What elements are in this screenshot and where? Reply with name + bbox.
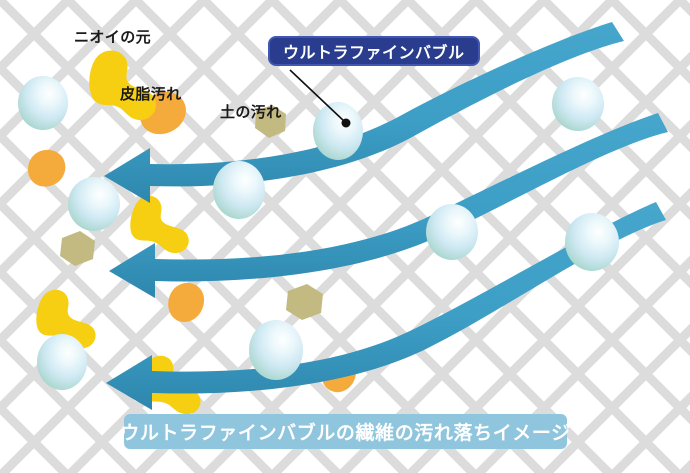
illustration-scene	[0, 0, 690, 473]
figure-canvas: ニオイの元 皮脂汚れ 土の汚れ ウルトラファインバブル ウルトラファインバブルの…	[0, 0, 690, 473]
bubble-3	[552, 77, 604, 131]
leader-dot	[342, 119, 351, 128]
bubble-8	[37, 334, 87, 390]
ultra-fine-bubble-badge: ウルトラファインバブル	[268, 36, 480, 66]
figure-caption-bar: ウルトラファインバブルの繊維の汚れ落ちイメージ	[124, 414, 567, 449]
bubble-6	[426, 204, 478, 260]
bubble-2	[313, 102, 363, 160]
bubble-5	[213, 161, 265, 219]
bubble-1	[18, 76, 68, 130]
label-odor-source: ニオイの元	[74, 26, 151, 47]
label-soil-stain: 土の汚れ	[220, 101, 282, 122]
bubble-7	[565, 213, 619, 271]
bubble-9	[249, 320, 303, 380]
bubble-4	[68, 177, 120, 231]
label-sebum-stain: 皮脂汚れ	[120, 83, 182, 104]
